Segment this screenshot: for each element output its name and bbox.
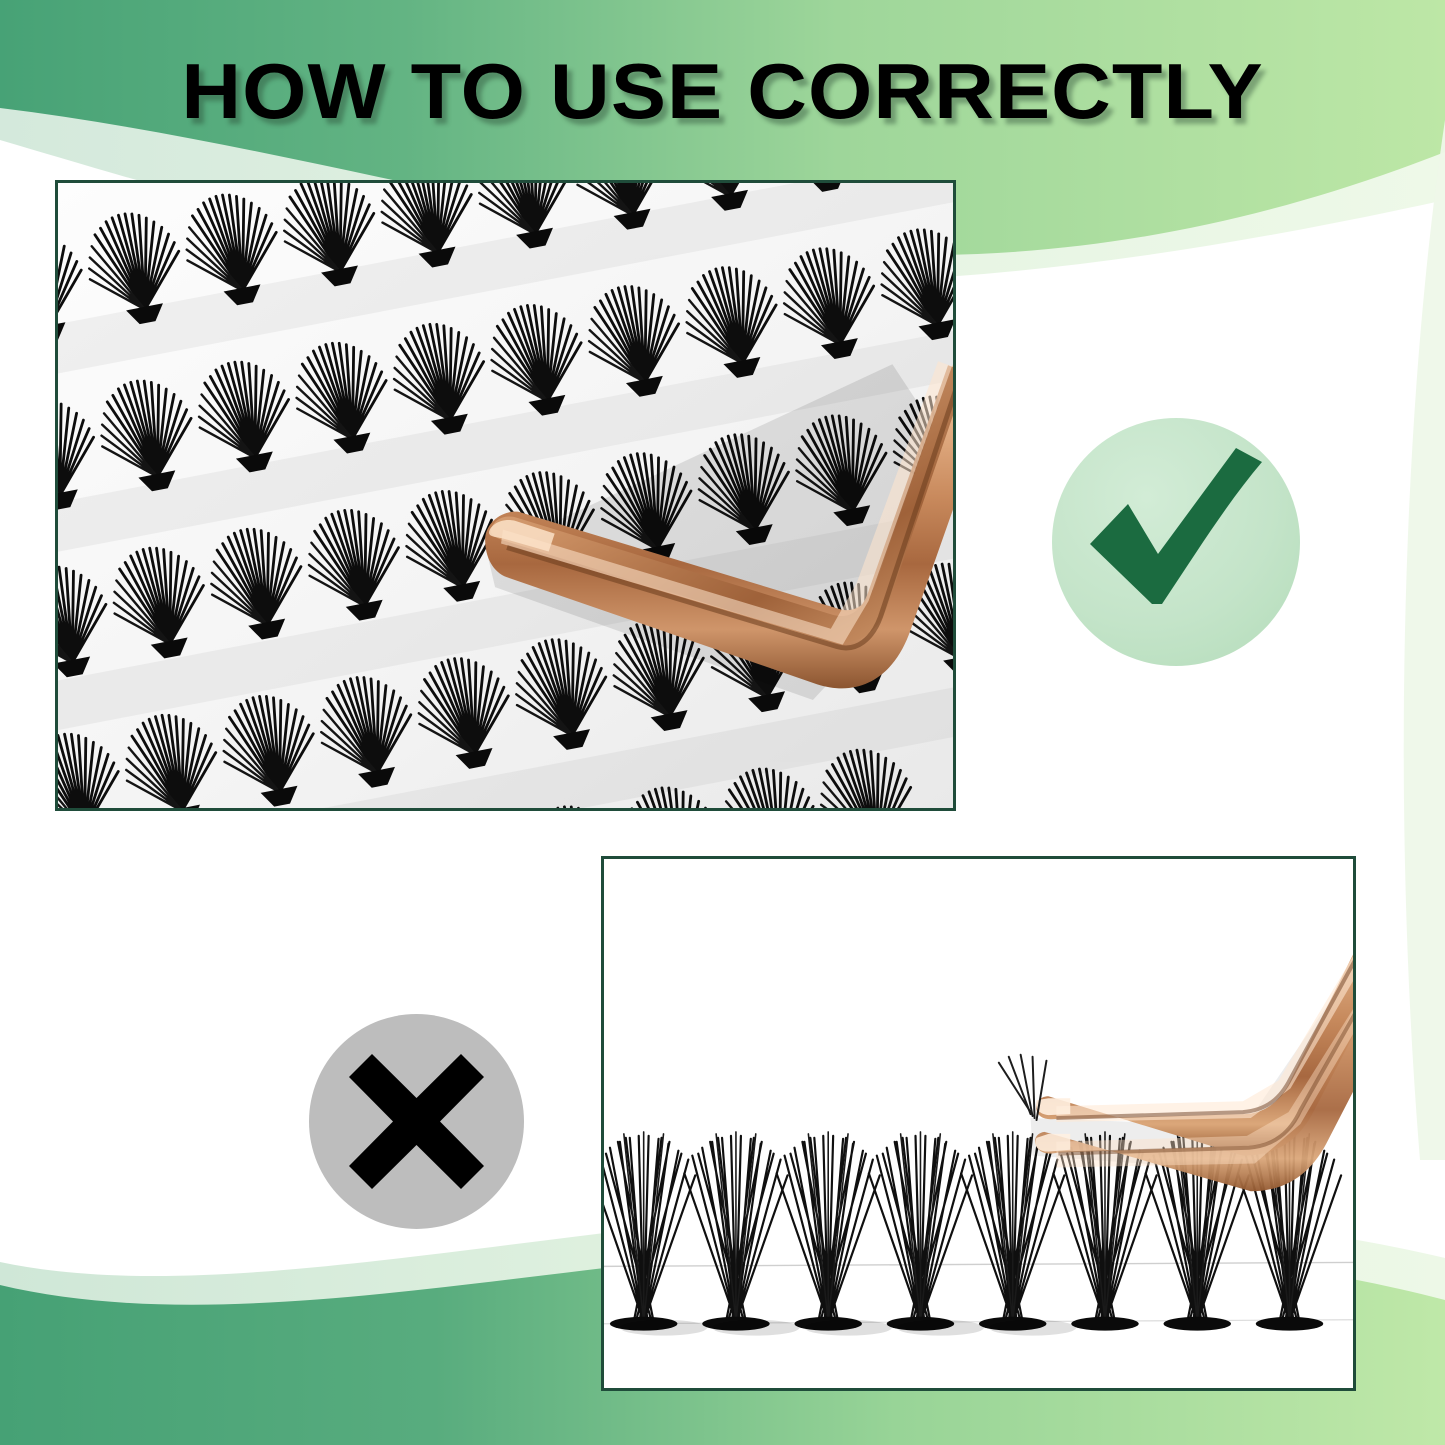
- incorrect-usage-photo: [601, 856, 1356, 1391]
- correct-photo-image: [58, 183, 953, 808]
- check-badge: [1052, 418, 1300, 666]
- incorrect-photo-image: [604, 859, 1353, 1388]
- infographic-canvas: HOW TO USE CORRECTLY: [0, 0, 1445, 1445]
- correct-usage-photo: [55, 180, 956, 811]
- check-icon: [1052, 418, 1300, 666]
- right-edge-wave: [1404, 120, 1445, 1160]
- cross-badge: [309, 1014, 524, 1229]
- page-title: HOW TO USE CORRECTLY: [0, 52, 1445, 130]
- cross-icon: [309, 1014, 524, 1229]
